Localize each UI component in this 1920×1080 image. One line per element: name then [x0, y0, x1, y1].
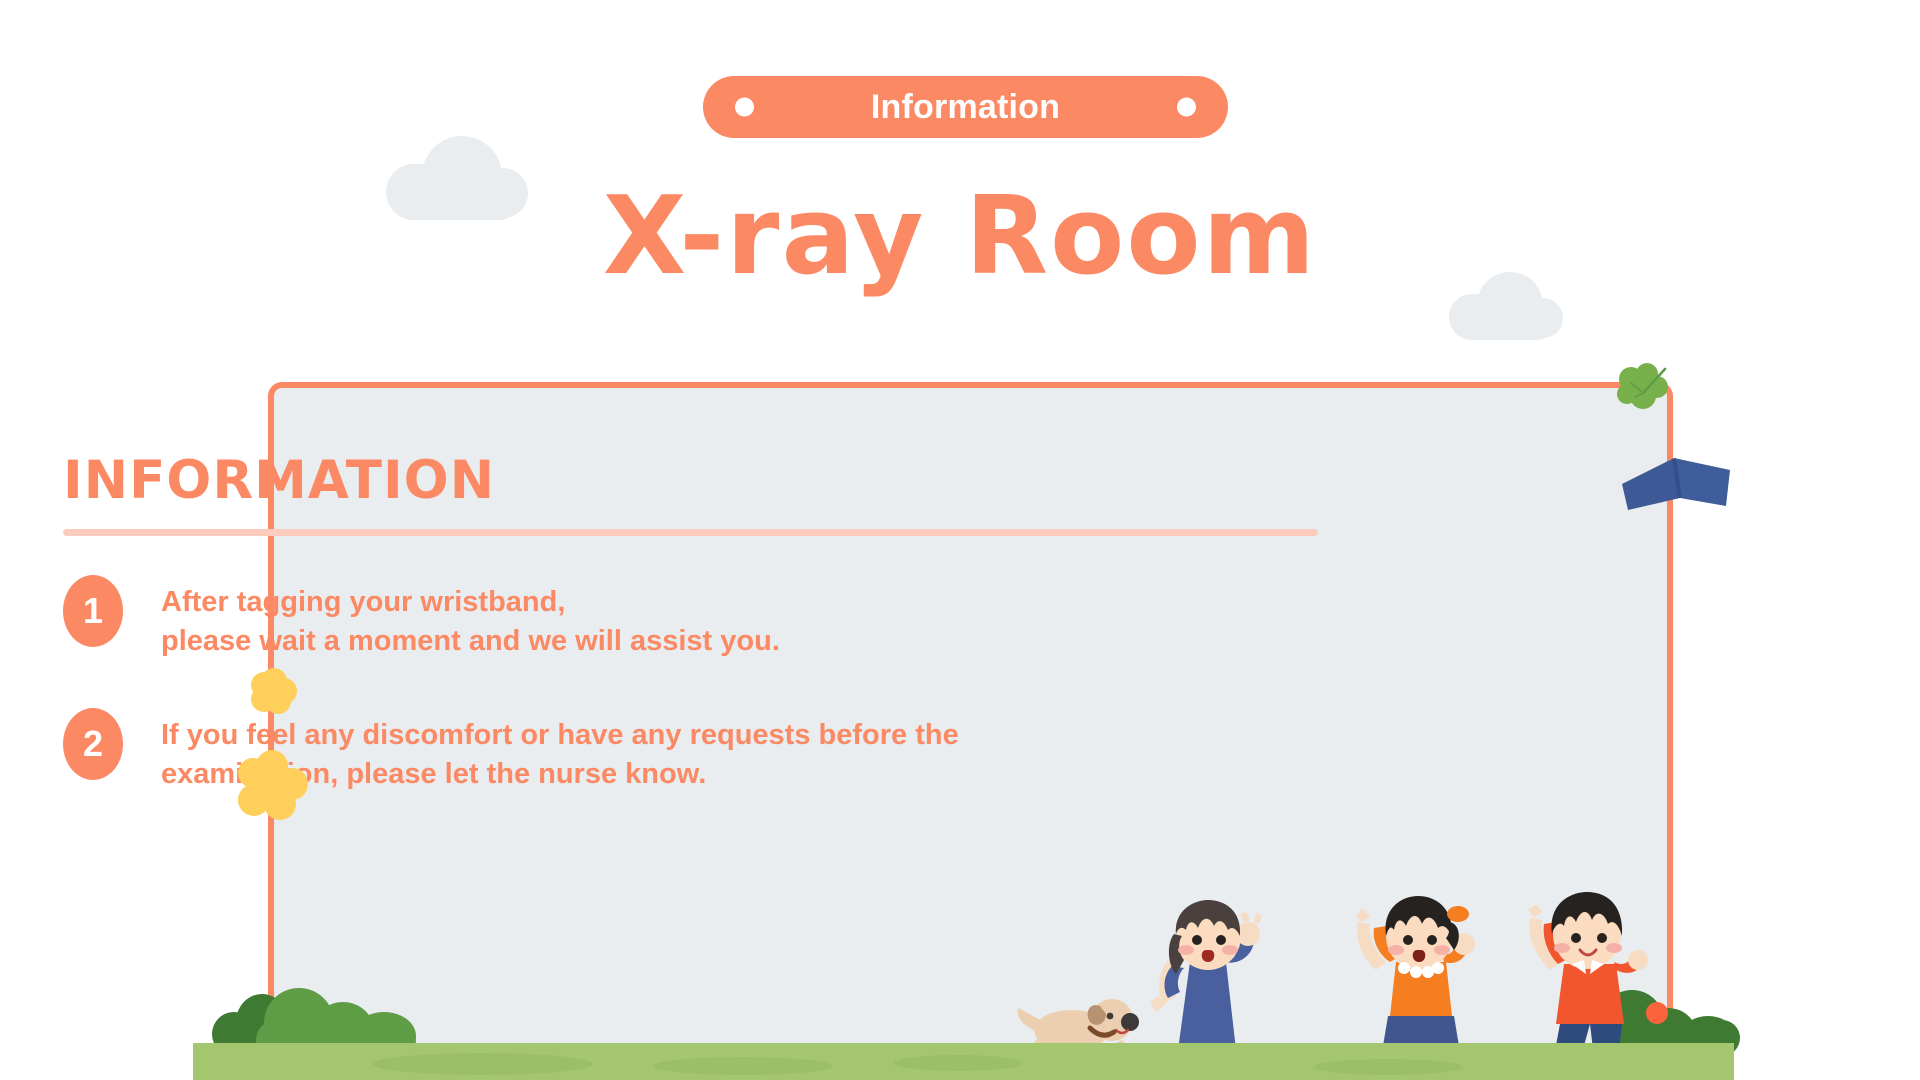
step-number-badge: 2 — [63, 708, 123, 780]
step-number-badge: 1 — [63, 575, 123, 647]
open-book-icon — [1618, 432, 1736, 512]
step-text: After tagging your wristband, please wai… — [161, 575, 780, 660]
card-heading: INFORMATION — [63, 450, 495, 511]
flower-icon — [238, 750, 308, 820]
heading-divider — [63, 529, 1318, 536]
page-title: X-ray Room — [0, 183, 1920, 291]
dot-icon — [1177, 98, 1196, 117]
information-badge[interactable]: Information — [703, 76, 1228, 138]
grass-icon — [212, 1060, 252, 1080]
poster-canvas: Information X-ray Room INFORMATION 1 Aft… — [0, 0, 1920, 1080]
bush-icon — [212, 970, 432, 1050]
clover-leaf-icon — [1613, 363, 1673, 418]
list-item: 1 After tagging your wristband, please w… — [63, 575, 1323, 660]
dot-icon — [735, 98, 754, 117]
flower-icon — [251, 668, 297, 714]
badge-label: Information — [871, 88, 1060, 127]
ground-strip — [193, 1043, 1734, 1080]
